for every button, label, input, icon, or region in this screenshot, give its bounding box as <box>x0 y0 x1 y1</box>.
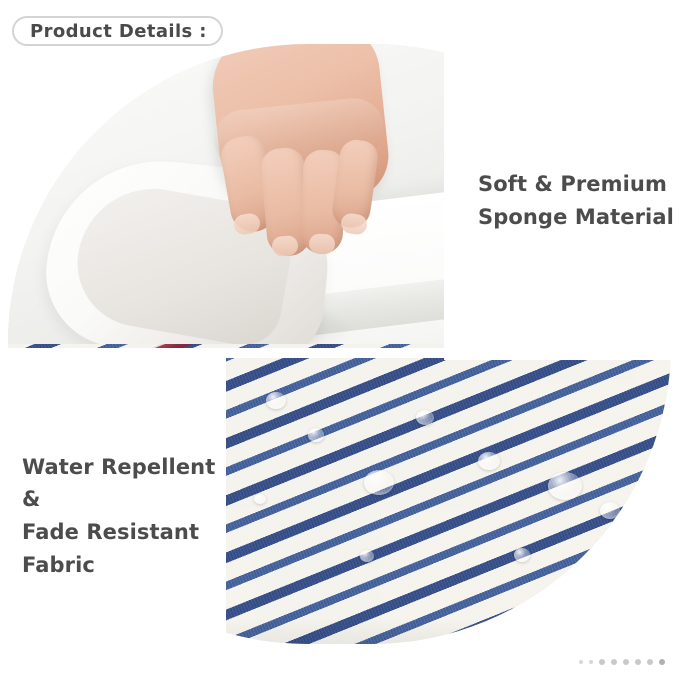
product-detail-image: Soft & Premium Sponge Material Water Rep… <box>0 0 679 679</box>
water-droplet <box>254 494 266 504</box>
carousel-dot[interactable] <box>623 659 629 665</box>
caption-sponge-line1: Soft & Premium <box>478 172 667 196</box>
caption-panel-sponge: Soft & Premium Sponge Material <box>444 42 679 360</box>
caption-sponge-line2: Sponge Material <box>478 201 674 234</box>
carousel-dot[interactable] <box>635 659 641 665</box>
caption-fabric-line1: Water Repellent & <box>22 455 215 512</box>
product-details-label: Product Details : <box>30 21 207 42</box>
carousel-dots[interactable] <box>579 659 665 665</box>
carousel-dot[interactable] <box>647 659 653 665</box>
water-droplet <box>514 548 530 562</box>
product-details-badge: Product Details : <box>12 16 223 46</box>
water-droplet <box>416 410 434 425</box>
carousel-dot[interactable] <box>589 660 593 664</box>
water-droplet <box>360 550 374 562</box>
water-droplet <box>308 428 324 442</box>
water-droplet <box>548 472 582 500</box>
carousel-dot-active[interactable] <box>659 659 665 665</box>
fingernail-ring <box>308 233 335 254</box>
water-droplet <box>266 392 286 409</box>
caption-fabric-text: Water Repellent & Fade Resistant Fabric <box>22 451 226 581</box>
caption-panel-fabric: Water Repellent & Fade Resistant Fabric <box>0 356 226 676</box>
caption-sponge-text: Soft & Premium Sponge Material <box>478 168 674 233</box>
water-droplet <box>600 502 620 519</box>
caption-fabric-line2: Fade Resistant Fabric <box>22 516 226 581</box>
carousel-dot[interactable] <box>611 659 617 665</box>
carousel-dot[interactable] <box>579 660 583 664</box>
water-droplet <box>364 470 394 495</box>
carousel-dot[interactable] <box>599 659 605 665</box>
water-droplet <box>478 452 500 470</box>
